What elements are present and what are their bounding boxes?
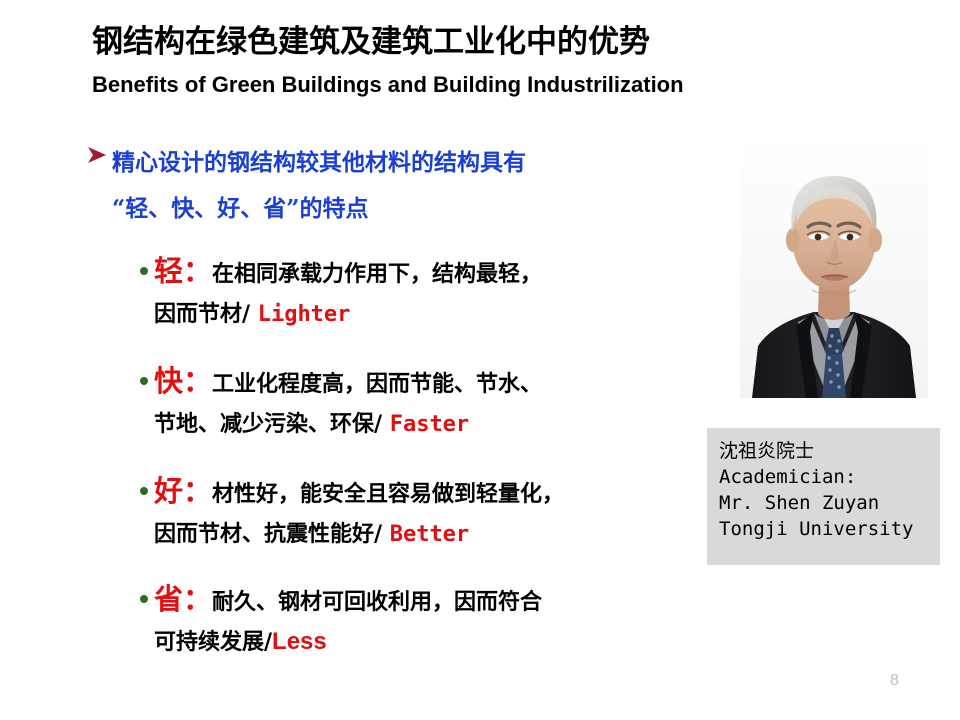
sub-bullet-light-body: 在相同承载力作用下，结构最轻，: [212, 256, 542, 288]
slide-canvas: 钢结构在绿色建筑及建筑工业化中的优势 Benefits of Green Bui…: [0, 0, 960, 720]
caption-affiliation: Tongji University: [719, 516, 940, 542]
sub-bullet-fast-body: 工业化程度高，因而节能、节水、: [212, 366, 542, 398]
sub-bullet-save-line-2: 可持续发展/Less: [154, 624, 700, 656]
sub-bullet-good-body: 材性好，能安全且容易做到轻量化，: [212, 476, 564, 508]
sub-bullet-light: 轻： 在相同承载力作用下，结构最轻， 因而节材/ Lighter: [140, 248, 700, 328]
sub-bullet-good-keyword: 好：: [154, 468, 212, 510]
sub-bullet-fast-line2-en: Faster: [390, 412, 469, 437]
sub-bullet-save-line-1: 省： 耐久、钢材可回收利用，因而符合: [140, 576, 700, 618]
bullet-dot-icon: [140, 267, 154, 275]
main-bullet-text-line2: “轻、快、好、省”的特点: [112, 186, 686, 232]
sub-bullet-save-line2-en: Less: [272, 628, 327, 655]
sub-bullet-good-line-1: 好： 材性好，能安全且容易做到轻量化，: [140, 468, 700, 510]
main-bullet-text-line1: 精心设计的钢结构较其他材料的结构具有: [112, 140, 526, 186]
bullet-dot-icon: [140, 487, 154, 495]
caption-academician-label: Academician:: [719, 464, 940, 490]
sub-bullet-save-keyword: 省：: [154, 576, 212, 618]
sub-bullet-good: 好： 材性好，能安全且容易做到轻量化， 因而节材、抗震性能好/ Better: [140, 468, 700, 548]
portrait-photo-shen-zuyan: [740, 132, 928, 398]
sub-bullet-light-line2-en: Lighter: [258, 302, 351, 327]
caption-person-name: Mr. Shen Zuyan: [719, 490, 940, 516]
sub-bullet-light-line2-cn: 因而节材/: [154, 301, 258, 327]
sub-bullet-fast-line-1: 快： 工业化程度高，因而节能、节水、: [140, 358, 700, 400]
page-title-chinese: 钢结构在绿色建筑及建筑工业化中的优势: [92, 16, 650, 61]
sub-bullet-light-keyword: 轻：: [154, 248, 212, 290]
sub-bullet-fast: 快： 工业化程度高，因而节能、节水、 节地、减少污染、环保/ Faster: [140, 358, 700, 438]
sub-bullet-light-line-2: 因而节材/ Lighter: [154, 296, 700, 328]
sub-bullet-good-line-2: 因而节材、抗震性能好/ Better: [154, 516, 700, 548]
arrow-right-icon: [86, 140, 112, 164]
sub-bullet-save-line2-cn: 可持续发展/: [154, 629, 272, 655]
page-title-english: Benefits of Green Buildings and Building…: [92, 72, 684, 98]
page-number: 8: [890, 672, 899, 690]
main-bullet-block: 精心设计的钢结构较其他材料的结构具有 “轻、快、好、省”的特点: [86, 140, 686, 232]
bullet-dot-icon: [140, 377, 154, 385]
portrait-caption-box: 沈祖炎院士 Academician: Mr. Shen Zuyan Tongji…: [707, 428, 940, 565]
bullet-dot-icon: [140, 595, 154, 603]
sub-bullet-good-line2-en: Better: [390, 522, 469, 547]
caption-name-chinese: 沈祖炎院士: [719, 438, 940, 464]
sub-bullet-light-line-1: 轻： 在相同承载力作用下，结构最轻，: [140, 248, 700, 290]
sub-bullet-fast-line-2: 节地、减少污染、环保/ Faster: [154, 406, 700, 438]
sub-bullet-save: 省： 耐久、钢材可回收利用，因而符合 可持续发展/Less: [140, 576, 700, 656]
sub-bullet-fast-keyword: 快：: [154, 358, 212, 400]
main-bullet-line-1: 精心设计的钢结构较其他材料的结构具有: [86, 140, 686, 186]
sub-bullet-good-line2-cn: 因而节材、抗震性能好/: [154, 521, 390, 547]
sub-bullet-save-body: 耐久、钢材可回收利用，因而符合: [212, 584, 542, 616]
sub-bullet-fast-line2-cn: 节地、减少污染、环保/: [154, 411, 390, 437]
